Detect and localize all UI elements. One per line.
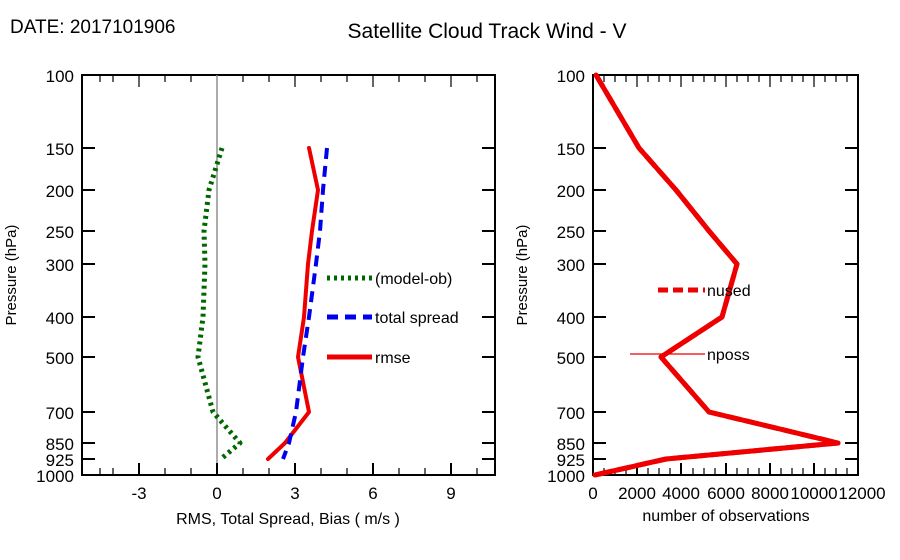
right-ytick-1000: 1000 [547,467,585,486]
right-ytick-300: 300 [557,256,585,275]
left-ytick-250: 250 [46,223,74,242]
right-panel: 100 150 200 250 300 400 500 700 850 925 … [514,67,886,525]
left-x-minor-ticks [100,468,477,475]
left-ytick-500: 500 [46,349,74,368]
left-xtick-9: 9 [446,484,455,503]
left-ytick-700: 700 [46,404,74,423]
legend-label-rmse: rmse [375,350,411,367]
left-y-ticks [82,75,95,475]
right-xaxis-title: number of observations [642,508,809,525]
series-nused-line [595,75,838,475]
right-ytick-250: 250 [557,223,585,242]
chart-svg: DATE: 2017101906 Satellite Cloud Track W… [0,0,900,560]
figure-canvas: DATE: 2017101906 Satellite Cloud Track W… [0,0,900,560]
date-label: DATE: 2017101906 [10,17,176,38]
right-ytick-500: 500 [557,349,585,368]
left-ytick-100: 100 [46,67,74,86]
left-xtick-neg3: -3 [131,484,146,503]
legend-label-total-spread: total spread [375,310,459,327]
left-ytick-150: 150 [46,140,74,159]
right-ytick-700: 700 [557,404,585,423]
left-xtick-0: 0 [212,484,221,503]
series-model-ob-line [198,148,240,459]
right-xtick-10000: 10000 [790,484,837,503]
right-yaxis-title: Pressure (hPa) [514,225,531,326]
left-x-top-ticks [100,75,477,87]
legend-label-model-ob: (model-ob) [375,271,452,288]
left-ytick-400: 400 [46,309,74,328]
left-x-major-ticks [139,463,451,475]
right-xtick-4000: 4000 [662,484,700,503]
right-xtick-8000: 8000 [751,484,789,503]
right-y-ticks-right [845,75,858,475]
right-ytick-200: 200 [557,182,585,201]
right-xtick-6000: 6000 [707,484,745,503]
page-title: Satellite Cloud Track Wind - V [348,20,627,43]
right-y-ticks [593,75,606,475]
right-xtick-2000: 2000 [618,484,656,503]
legend-label-nused: nused [707,283,751,300]
right-ytick-150: 150 [557,140,585,159]
right-legend: nused nposs [630,283,751,364]
left-y-ticks-right [482,75,495,475]
right-x-top-ticks [604,75,847,87]
left-panel: 100 150 200 250 300 400 500 700 850 925 … [3,67,495,528]
left-xaxis-title: RMS, Total Spread, Bias ( m/s ) [176,511,400,528]
right-ytick-100: 100 [557,67,585,86]
right-xtick-0: 0 [588,484,597,503]
left-ytick-300: 300 [46,256,74,275]
legend-label-nposs: nposs [707,347,750,364]
left-ytick-1000: 1000 [36,467,74,486]
left-legend: (model-ob) total spread rmse [327,271,459,367]
left-ytick-200: 200 [46,182,74,201]
left-xtick-6: 6 [368,484,377,503]
right-ytick-400: 400 [557,309,585,328]
right-xtick-12000: 12000 [838,484,885,503]
series-rmse-line [268,148,318,459]
left-xtick-3: 3 [290,484,299,503]
left-yaxis-title: Pressure (hPa) [3,225,20,326]
